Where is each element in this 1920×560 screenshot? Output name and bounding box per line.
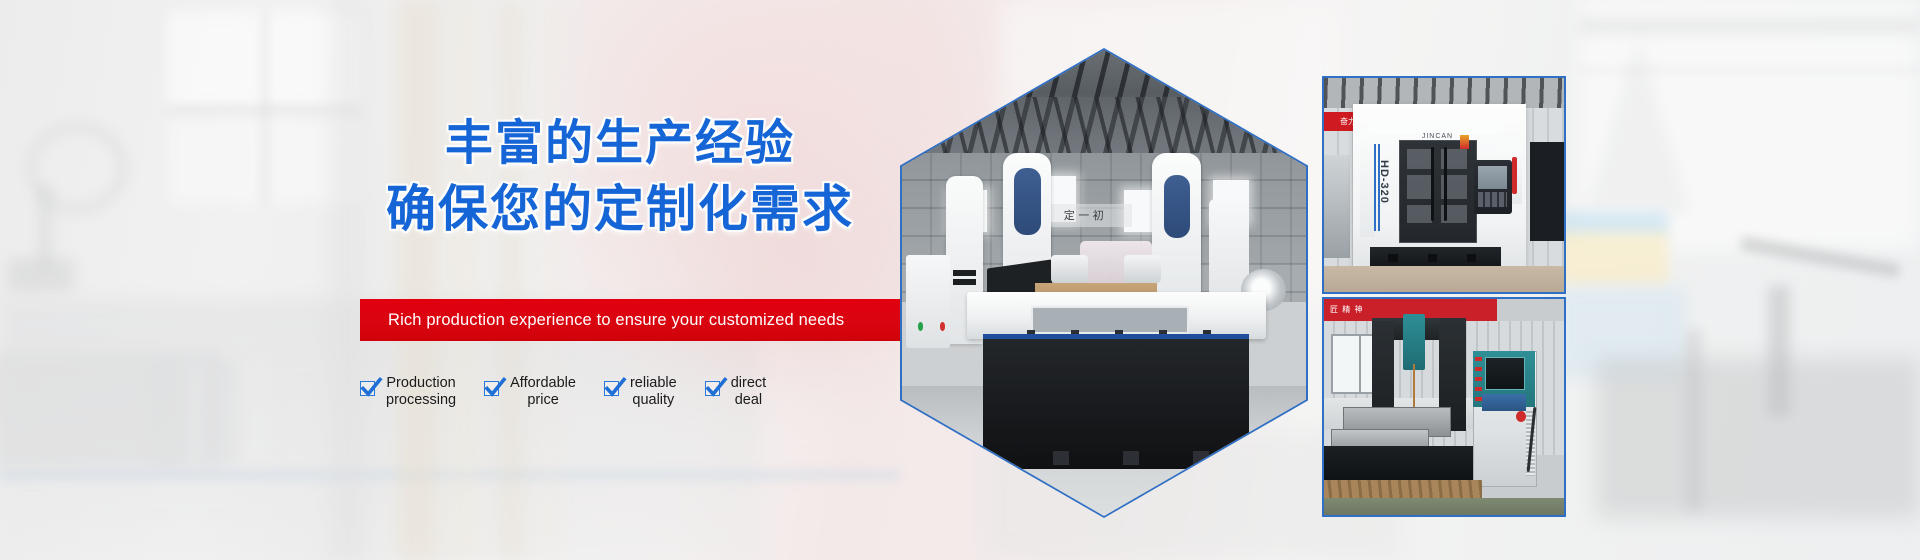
hall-sign-text: 定 一 初 (1039, 202, 1128, 228)
feature-label-line-2: deal (731, 392, 766, 409)
feature-label-line-1: Affordable (510, 375, 576, 391)
copy-block: 丰富的生产经验 确保您的定制化需求 Rich production experi… (0, 0, 920, 560)
thumb-door-handle (1444, 147, 1447, 220)
thumb-warning-sticker (1460, 135, 1469, 148)
headline: 丰富的生产经验 确保您的定制化需求 (360, 112, 880, 240)
thumb-machine-doors (1399, 140, 1477, 242)
check-icon (604, 381, 621, 398)
machine-spindle-head (1124, 255, 1160, 283)
feature-label-line-2: processing (386, 392, 456, 409)
hexagon-photo-clip: 定 一 初 (902, 50, 1306, 516)
thumb2-emergency-stop (1516, 411, 1526, 422)
feature-label-line-1: reliable (630, 375, 677, 391)
thumb2-cutting-head (1403, 314, 1425, 370)
thumb-cnc-control-panel (1474, 160, 1512, 213)
hero-hexagon-image: 定 一 初 (900, 48, 1308, 518)
thumb-machine-brand-label: JINCAN (1415, 132, 1460, 140)
factory-machine-photo: 定 一 初 (902, 50, 1306, 516)
feature-label: Affordable price (510, 375, 576, 409)
feature-label: reliable quality (630, 375, 677, 409)
feature-item: direct deal (705, 375, 766, 409)
thumb2-control-screen (1485, 357, 1525, 389)
machine-spindle-head (1051, 255, 1087, 283)
feature-item: reliable quality (604, 375, 677, 409)
thumb2-control-keypad (1482, 394, 1525, 411)
check-icon (360, 381, 377, 398)
subtitle-text: Rich production experience to ensure you… (360, 311, 844, 330)
feature-label-line-1: Production (386, 375, 455, 391)
check-icon (484, 381, 501, 398)
feature-item: Production processing (360, 375, 456, 409)
check-icon (705, 381, 722, 398)
feature-item: Affordable price (484, 375, 576, 409)
feature-label-line-2: quality (630, 392, 677, 409)
thumb2-floor (1324, 498, 1564, 515)
thumbnail-bottom: 匠 精 神 (1322, 297, 1566, 517)
thumb-machine-body: HD-320 JINCAN (1353, 104, 1526, 271)
feature-label: Production processing (386, 375, 456, 409)
thumb2-machine-bed (1324, 446, 1473, 481)
thumb-red-bracket (1512, 157, 1517, 194)
thumbnail-top: 奋力 HD-320 JINCAN (1322, 76, 1566, 294)
headline-line-2: 确保您的定制化需求 (360, 178, 880, 240)
machine-right-column (1152, 153, 1200, 311)
thumb-floor (1324, 266, 1564, 292)
headline-line-1: 丰富的生产经验 (360, 112, 880, 174)
subtitle-red-bar: Rich production experience to ensure you… (360, 299, 900, 341)
feature-list: Production processing Affordable price (360, 375, 794, 409)
machine-side-cabinet (906, 255, 950, 348)
promo-banner: 丰富的生产经验 确保您的定制化需求 Rich production experi… (0, 0, 1920, 560)
feature-label: direct deal (731, 375, 766, 409)
thumb-door-handle (1431, 147, 1434, 220)
thumb-side-machine (1324, 155, 1350, 258)
thumb-dark-machine (1530, 142, 1564, 240)
feature-label-line-2: price (510, 392, 576, 409)
hall-roof-trusses (902, 97, 1306, 153)
thumb2-control-buttons (1475, 357, 1482, 405)
feature-label-line-1: direct (731, 375, 766, 391)
thumb-machine-model-label: HD-320 (1375, 147, 1392, 217)
thumb-machine-plinth (1370, 247, 1501, 267)
